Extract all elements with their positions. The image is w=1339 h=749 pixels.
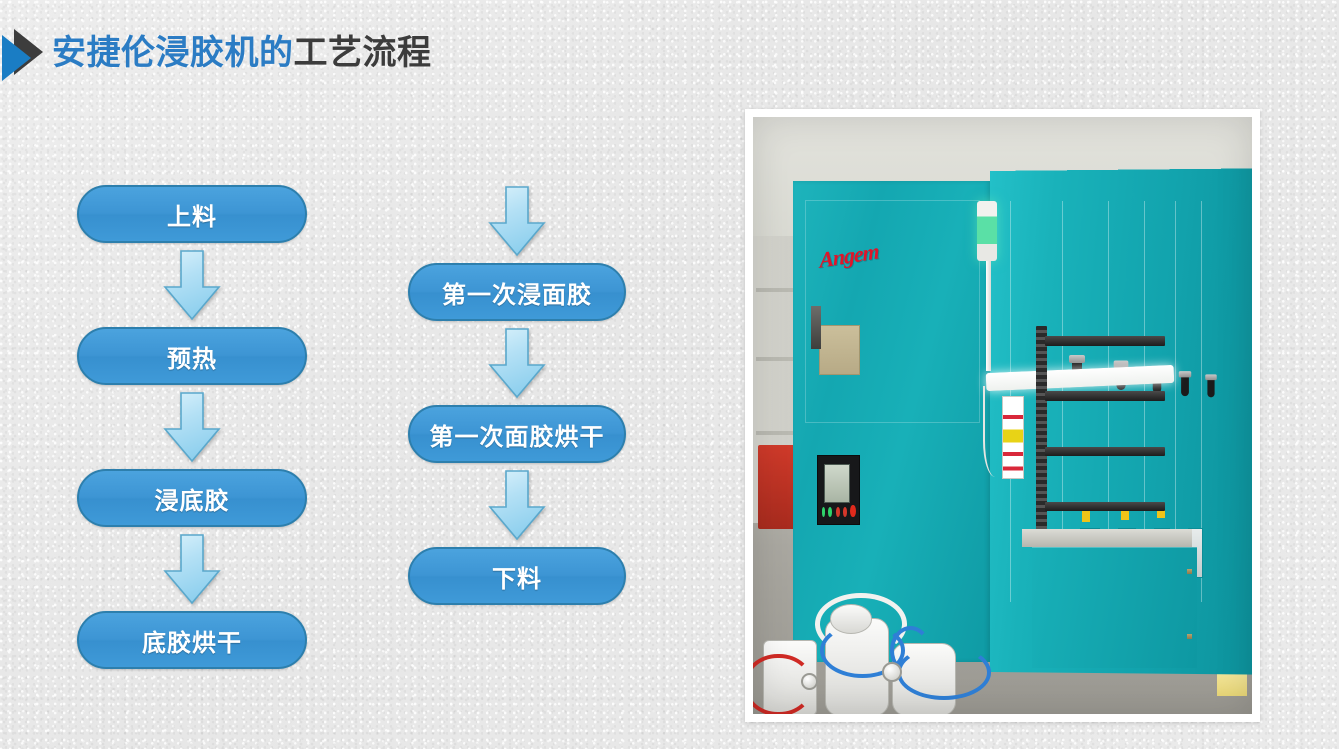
photo-loading-tray	[1022, 529, 1192, 547]
photo-control-panel	[817, 455, 860, 524]
flow-column-1: 上料 预热 浸底胶	[77, 185, 307, 669]
photo-foreground-pump-equipment	[753, 577, 993, 714]
flow-node-label: 底胶烘干	[142, 623, 242, 658]
photo-door-handle	[1207, 379, 1214, 398]
flow-node-label: 下料	[492, 559, 542, 594]
photo-carrier-bar	[1045, 336, 1164, 346]
machine-photo-frame: Angem	[745, 109, 1260, 722]
flow-arrow-down-icon	[161, 533, 223, 605]
photo-signal-tower-light	[977, 201, 998, 261]
photo-light-pole	[986, 261, 992, 371]
photo-nameplate	[819, 325, 860, 375]
photo-base-cabinet	[1032, 547, 1197, 668]
process-flowchart: 上料 预热 浸底胶	[0, 0, 700, 749]
flow-node-label: 预热	[167, 339, 217, 374]
flow-node-label: 第一次浸面胶	[442, 275, 592, 310]
photo-carrier-bar	[1045, 502, 1164, 512]
photo-door-handle	[1181, 376, 1189, 396]
photo-pressure-gauge	[801, 673, 818, 690]
flow-node-label: 第一次面胶烘干	[430, 417, 605, 452]
photo-door-latch	[811, 306, 821, 349]
flow-arrow-down-icon	[486, 469, 548, 541]
photo-cable	[983, 386, 1003, 476]
flow-arrow-down-icon	[161, 249, 223, 321]
flow-node-dijiaohonggan[interactable]: 底胶烘干	[77, 611, 307, 669]
flow-column-2: 第一次浸面胶 第一次面胶烘干 下料	[402, 185, 632, 605]
flow-node-xialiao[interactable]: 下料	[408, 547, 626, 605]
flow-node-shang-liao[interactable]: 上料	[77, 185, 307, 243]
flow-node-diyici-mianjiao-honggan[interactable]: 第一次面胶烘干	[408, 405, 626, 463]
flow-arrow-down-icon	[161, 391, 223, 463]
flow-node-jindijiao[interactable]: 浸底胶	[77, 469, 307, 527]
flow-arrow-down-icon	[486, 185, 548, 257]
machine-photo: Angem	[753, 117, 1252, 714]
flow-node-yure[interactable]: 预热	[77, 327, 307, 385]
machine-brand-logo: Angem	[818, 239, 878, 274]
photo-carrier-bar	[1045, 391, 1164, 401]
flow-node-label: 上料	[167, 197, 217, 232]
flow-arrow-down-icon	[486, 327, 548, 399]
photo-carrier-bar	[1045, 447, 1164, 457]
flow-node-diyici-jinmianjiao[interactable]: 第一次浸面胶	[408, 263, 626, 321]
photo-warning-label	[1002, 396, 1025, 478]
photo-hmi-screen	[824, 464, 850, 503]
flow-node-label: 浸底胶	[155, 481, 230, 516]
